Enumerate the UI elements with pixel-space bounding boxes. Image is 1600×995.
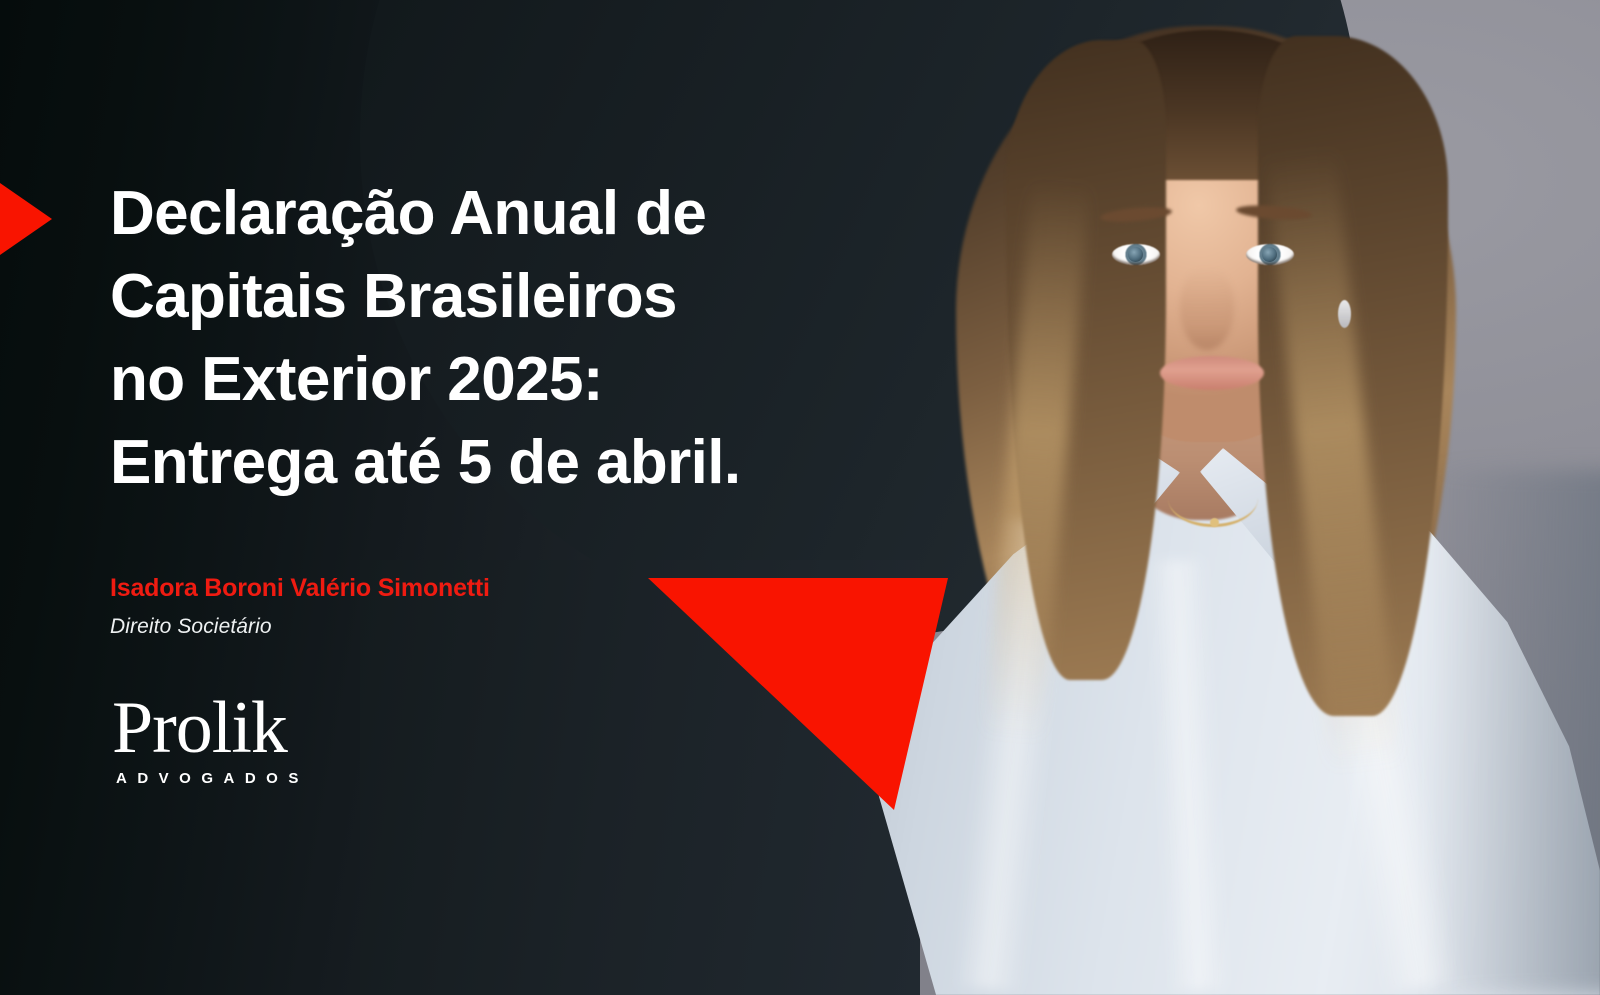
headline-line-1: Declaração Anual de bbox=[110, 172, 900, 255]
headline-line-4: Entrega até 5 de abril. bbox=[110, 421, 900, 504]
nose bbox=[1180, 268, 1234, 350]
headline-line-2: Capitais Brasileiros bbox=[110, 255, 900, 338]
content-block: Declaração Anual de Capitais Brasileiros… bbox=[110, 0, 900, 995]
shirt-shadow bbox=[1428, 470, 1600, 995]
byline: Isadora Boroni Valério Simonetti Direito… bbox=[110, 572, 810, 639]
author-name: Isadora Boroni Valério Simonetti bbox=[110, 572, 810, 606]
triangle-right-icon bbox=[0, 183, 52, 255]
brand-logo: Prolik ADVOGADOS bbox=[112, 692, 412, 786]
earring bbox=[1338, 300, 1351, 328]
page-title: Declaração Anual de Capitais Brasileiros… bbox=[110, 172, 900, 504]
lips bbox=[1160, 356, 1264, 390]
banner-canvas: Declaração Anual de Capitais Brasileiros… bbox=[0, 0, 1600, 995]
pupil-right bbox=[1262, 247, 1277, 262]
logo-wordmark: Prolik bbox=[112, 692, 412, 765]
pupil-left bbox=[1128, 247, 1143, 262]
author-practice-area: Direito Societário bbox=[110, 615, 810, 639]
portrait-photo bbox=[828, 0, 1600, 995]
necklace-pendant bbox=[1210, 518, 1219, 527]
logo-tagline: ADVOGADOS bbox=[116, 771, 412, 786]
headline-line-3: no Exterior 2025: bbox=[110, 338, 900, 421]
